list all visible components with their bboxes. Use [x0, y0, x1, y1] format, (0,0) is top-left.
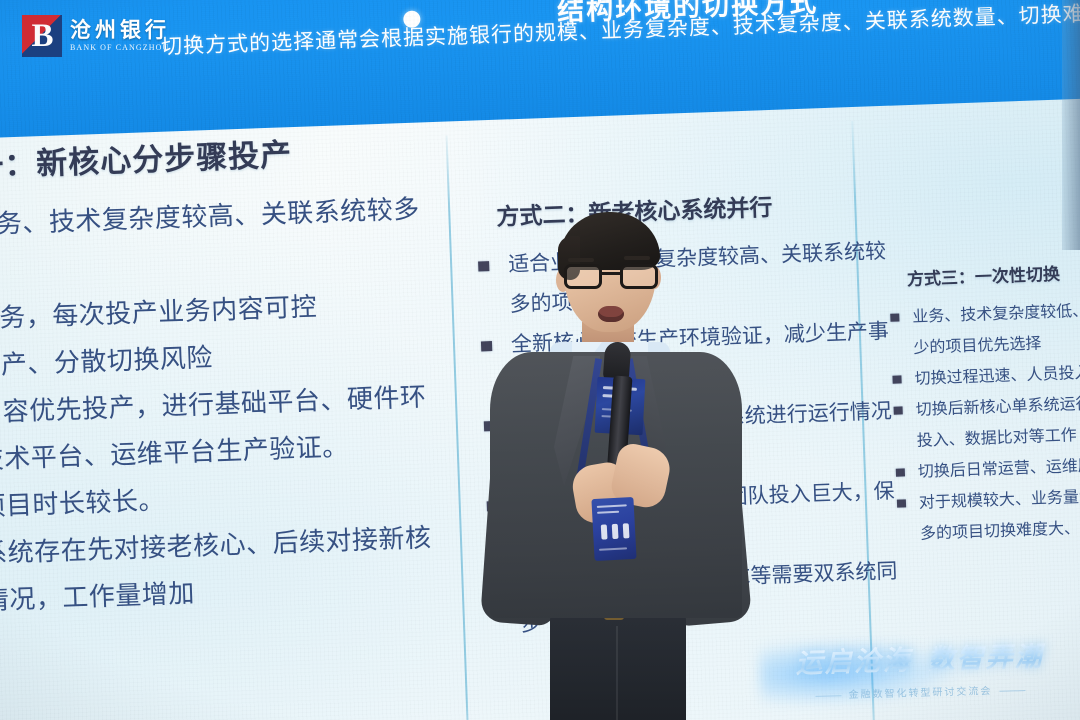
speaker-eyebrow-right: [624, 256, 650, 260]
speaker-trouser-crease: [616, 626, 618, 720]
glasses-bridge: [602, 272, 620, 275]
list-item: 切换后新核心单系统运行，无需二次投入、数据比对等工作: [889, 386, 1080, 458]
column-3-bullet-list: 业务、技术复杂度较低、关联系统较少的项目优先选择 切换过程迅速、人员投入少 切换…: [886, 293, 1080, 551]
column-1-bullet-list: 适合业务、技术复杂度较高、关联系统较多的项目 拆分业务，每次投产业务内容可控 多…: [0, 185, 456, 628]
slide-column-1: 方式一：新核心分步骤投产 适合业务、技术复杂度较高、关联系统较多的项目 拆分业务…: [0, 124, 456, 628]
bank-name-cn: 沧州银行: [70, 19, 170, 42]
bank-logo-text: 沧州银行 BANK OF CANGZHOU: [70, 19, 170, 53]
event-watermark: 运启沧海数智弄潮 金融数智化转型研讨交流会: [769, 634, 1071, 718]
speaker-conference-badge: [591, 497, 636, 561]
right-wall-edge: [1062, 0, 1080, 250]
watermark-title-part2: 数智弄潮: [927, 642, 1044, 675]
bank-name-en: BANK OF CANGZHOU: [70, 42, 170, 53]
watermark-title-part1: 运启沧海: [795, 645, 912, 678]
column-3-title: 方式三：一次性切换: [906, 256, 1080, 291]
speaker-person: [468, 206, 768, 720]
bank-logo: B 沧州银行 BANK OF CANGZHOU: [22, 12, 182, 60]
speaker-trousers: [550, 610, 686, 720]
badge-stripes: [601, 523, 630, 539]
conference-photo: 结构环境的切换方式 切换方式的选择通常会根据实施银行的规模、业务复杂度、技术复杂…: [0, 0, 1080, 720]
logo-letter: B: [27, 18, 58, 54]
list-item: 部分系统存在先对接老核心、后续对接新核心的情况，工作量增加: [0, 514, 456, 628]
list-item: 业务、技术复杂度较低、关联系统较少的项目优先选择: [886, 293, 1080, 365]
glasses-lens-right: [620, 264, 658, 289]
slide-column-3: 方式三：一次性切换 业务、技术复杂度较低、关联系统较少的项目优先选择 切换过程迅…: [884, 256, 1080, 551]
speaker-glasses-icon: [564, 264, 658, 290]
speaker-mouth: [598, 306, 624, 322]
speaker-eyebrow-left: [568, 258, 594, 262]
glasses-lens-left: [564, 264, 602, 289]
list-item: 对于规模较大、业务量大、关联系统多的项目切换难度大、切换风险高。: [892, 478, 1080, 550]
bank-logo-mark-icon: B: [22, 15, 62, 57]
